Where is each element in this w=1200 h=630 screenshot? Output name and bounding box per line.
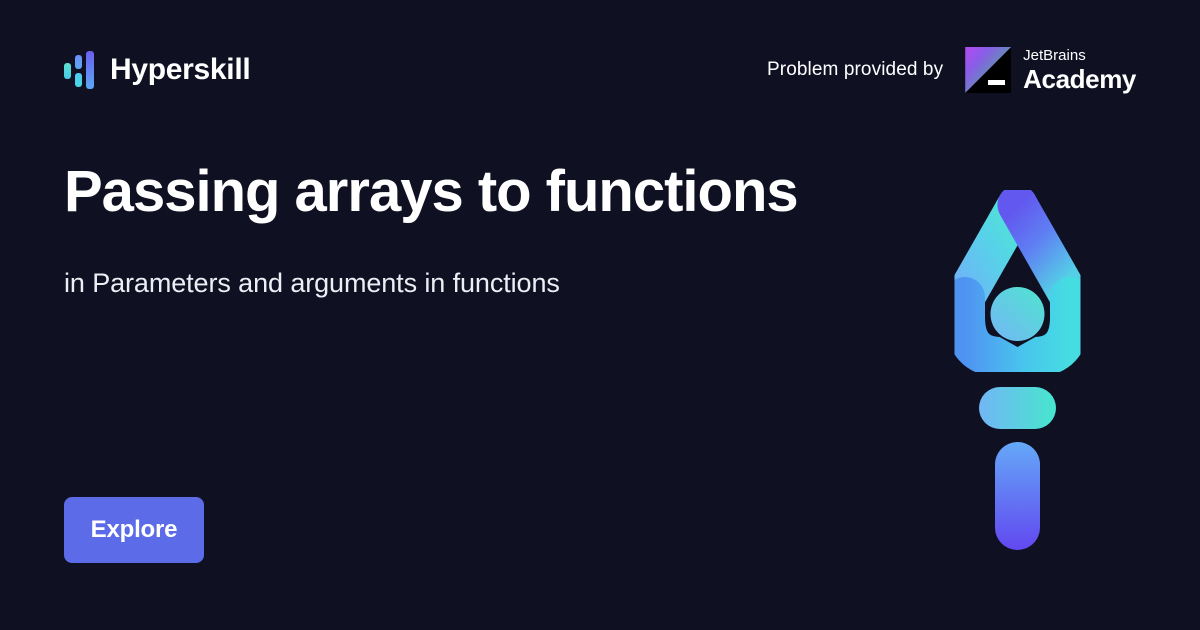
- provider-label: Problem provided by: [767, 59, 943, 81]
- page-header: Hyperskill Problem provided by JetBrains…: [0, 0, 1200, 140]
- logo-bar-2: [75, 55, 82, 69]
- logo-bar-3: [75, 73, 82, 87]
- provider-block: Problem provided by JetBrains Academy: [767, 47, 1136, 93]
- page-title: Passing arrays to functions: [64, 160, 864, 224]
- main-content: Passing arrays to functions in Parameter…: [64, 160, 864, 299]
- emblem-center-circle: [991, 287, 1045, 341]
- jetbrains-academy-logo[interactable]: JetBrains Academy: [965, 47, 1136, 93]
- hyperskill-brand-name: Hyperskill: [110, 55, 250, 85]
- explore-button[interactable]: Explore: [64, 497, 204, 563]
- emblem-vertical-bar: [995, 442, 1040, 550]
- jetbrains-text: JetBrains: [1023, 48, 1136, 63]
- emblem-horizontal-pill: [979, 387, 1056, 429]
- hyperskill-brand[interactable]: Hyperskill: [64, 51, 250, 89]
- hyperskill-emblem-graphic: [945, 185, 1090, 550]
- gradient-triangle: [965, 47, 1011, 93]
- jetbrains-academy-mark-icon: [965, 47, 1011, 93]
- underscore-glyph: [988, 80, 1005, 85]
- logo-bar-4: [86, 51, 94, 89]
- jetbrains-academy-wordmark: JetBrains Academy: [1023, 48, 1136, 92]
- hyperskill-logo-icon: [64, 51, 94, 89]
- academy-text: Academy: [1023, 66, 1136, 92]
- page-subtitle: in Parameters and arguments in functions: [64, 268, 864, 299]
- logo-bar-1: [64, 63, 71, 79]
